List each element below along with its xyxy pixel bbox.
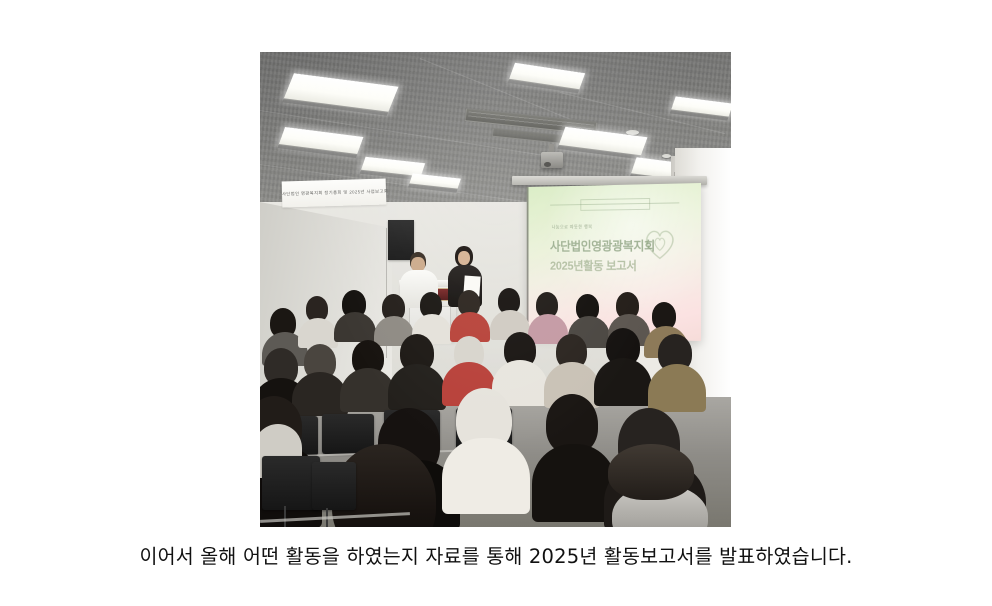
audience-person — [648, 364, 706, 412]
foreground-person-head-dark — [608, 444, 694, 500]
seminar-photo: 사단법인 영광복지회 정기총회 및 2025년 사업보고회 나눔으로 따뜻한 행… — [260, 52, 731, 527]
audience-person — [594, 358, 652, 406]
audience-person — [334, 312, 376, 342]
audience-person — [442, 438, 530, 514]
smoke-detector-icon — [662, 154, 671, 158]
chair — [312, 462, 356, 510]
page-root: 사단법인 영광복지회 정기총회 및 2025년 사업보고회 나눔으로 따뜻한 행… — [0, 0, 992, 606]
photo-caption: 이어서 올해 어떤 활동을 하였는지 자료를 통해 2025년 활동보고서를 발… — [0, 540, 992, 569]
audience-area — [260, 248, 731, 527]
wall-banner: 사단법인 영광복지회 정기총회 및 2025년 사업보고회 — [282, 179, 387, 208]
slide-kicker-text: 나눔으로 따뜻한 행복 — [552, 224, 593, 230]
projector-lens-icon — [544, 162, 551, 167]
audience-person — [388, 364, 446, 410]
chair-leg — [284, 506, 286, 527]
wall-banner-text: 사단법인 영광복지회 정기총회 및 2025년 사업보고회 — [282, 189, 386, 198]
